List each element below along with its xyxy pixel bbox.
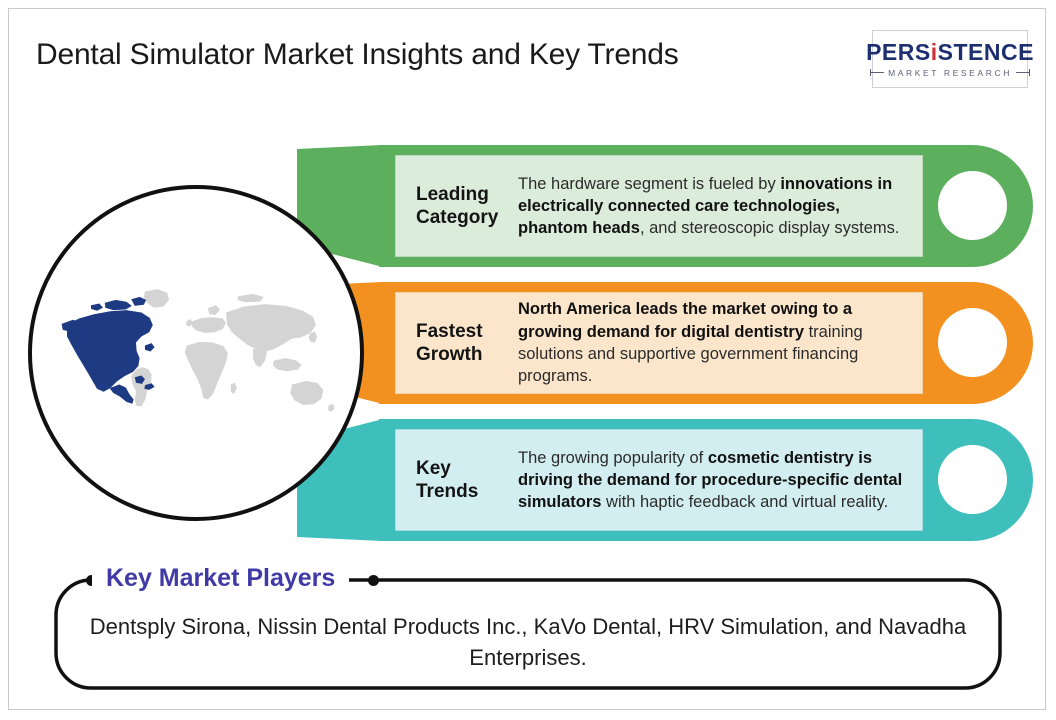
card-label-line1: Fastest xyxy=(416,321,483,342)
world-map-icon xyxy=(46,271,346,436)
card-body: Key Trends The growing popularity of cos… xyxy=(379,419,1033,541)
card-description: The hardware segment is fueled by innova… xyxy=(518,173,922,240)
card-label-line2: Category xyxy=(416,207,498,228)
card-hole-circle xyxy=(938,308,1007,377)
card-label: Key Trends xyxy=(396,457,518,503)
card-label-line2: Trends xyxy=(416,481,478,502)
card-label-line1: Leading xyxy=(416,184,489,205)
world-map-circle xyxy=(28,185,364,521)
card-leading-category[interactable]: Leading Category The hardware segment is… xyxy=(297,145,1033,267)
players-dot-right-icon xyxy=(368,575,379,586)
card-body: Leading Category The hardware segment is… xyxy=(379,145,1033,267)
card-panel: Key Trends The growing popularity of cos… xyxy=(395,429,923,531)
card-panel: Fastest Growth North America leads the m… xyxy=(395,292,923,394)
card-label-line2: Growth xyxy=(416,344,483,365)
key-market-players-section: Key Market Players Dentsply Sirona, Niss… xyxy=(54,578,1002,690)
card-hole-circle xyxy=(938,445,1007,514)
card-description: North America leads the market owing to … xyxy=(518,298,922,387)
card-label-line1: Key xyxy=(416,458,451,479)
card-key-trends[interactable]: Key Trends The growing popularity of cos… xyxy=(297,419,1033,541)
card-label: Fastest Growth xyxy=(396,320,518,366)
card-description: The growing popularity of cosmetic denti… xyxy=(518,447,922,514)
world-map-base-continents xyxy=(131,289,334,412)
card-fastest-growth[interactable]: Fastest Growth North America leads the m… xyxy=(297,282,1033,404)
players-list: Dentsply Sirona, Nissin Dental Products … xyxy=(88,612,968,674)
card-body: Fastest Growth North America leads the m… xyxy=(379,282,1033,404)
players-title: Key Market Players xyxy=(92,561,349,595)
card-label: Leading Category xyxy=(396,183,518,229)
infographic-root: Dental Simulator Market Insights and Key… xyxy=(0,0,1056,720)
card-hole-circle xyxy=(938,171,1007,240)
card-panel: Leading Category The hardware segment is… xyxy=(395,155,923,257)
